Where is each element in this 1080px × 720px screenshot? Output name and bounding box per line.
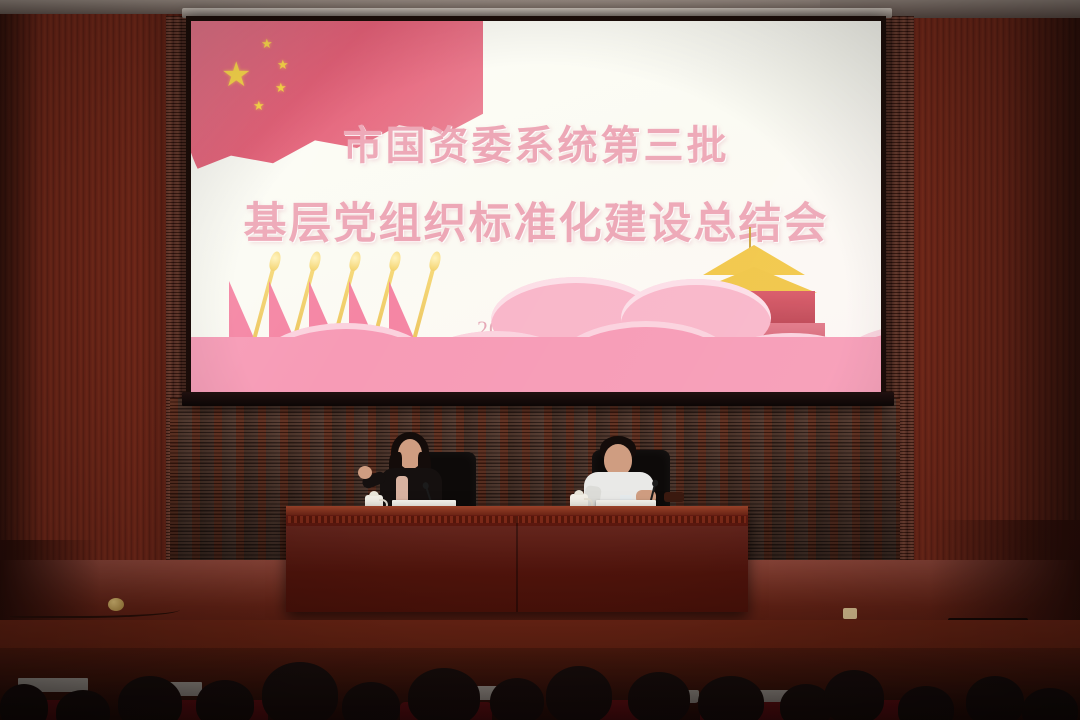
presidium-table-top: [286, 506, 748, 515]
stage-small-object: [108, 598, 124, 611]
slide-title-line1: 市国资委系统第三批: [343, 123, 730, 168]
conference-hall-photo: ★ ★ ★ ★ ★ 市国资委系统第三批 基层党组织标准化建设总结会 2018年1…: [0, 0, 1080, 720]
screen-bottom-bar: [182, 392, 894, 406]
presentation-slide: ★ ★ ★ ★ ★ 市国资委系统第三批 基层党组织标准化建设总结会 2018年1…: [191, 21, 881, 397]
slide-title: 市国资委系统第三批 基层党组织标准化建设总结会: [191, 113, 881, 251]
hand-left: [358, 466, 372, 479]
cloud-decoration: [191, 277, 881, 397]
audience-shadow-overlay: [0, 648, 1080, 720]
projection-screen: ★ ★ ★ ★ ★ 市国资委系统第三批 基层党组织标准化建设总结会 2018年1…: [186, 16, 886, 402]
stage-edge-light: [843, 608, 857, 619]
